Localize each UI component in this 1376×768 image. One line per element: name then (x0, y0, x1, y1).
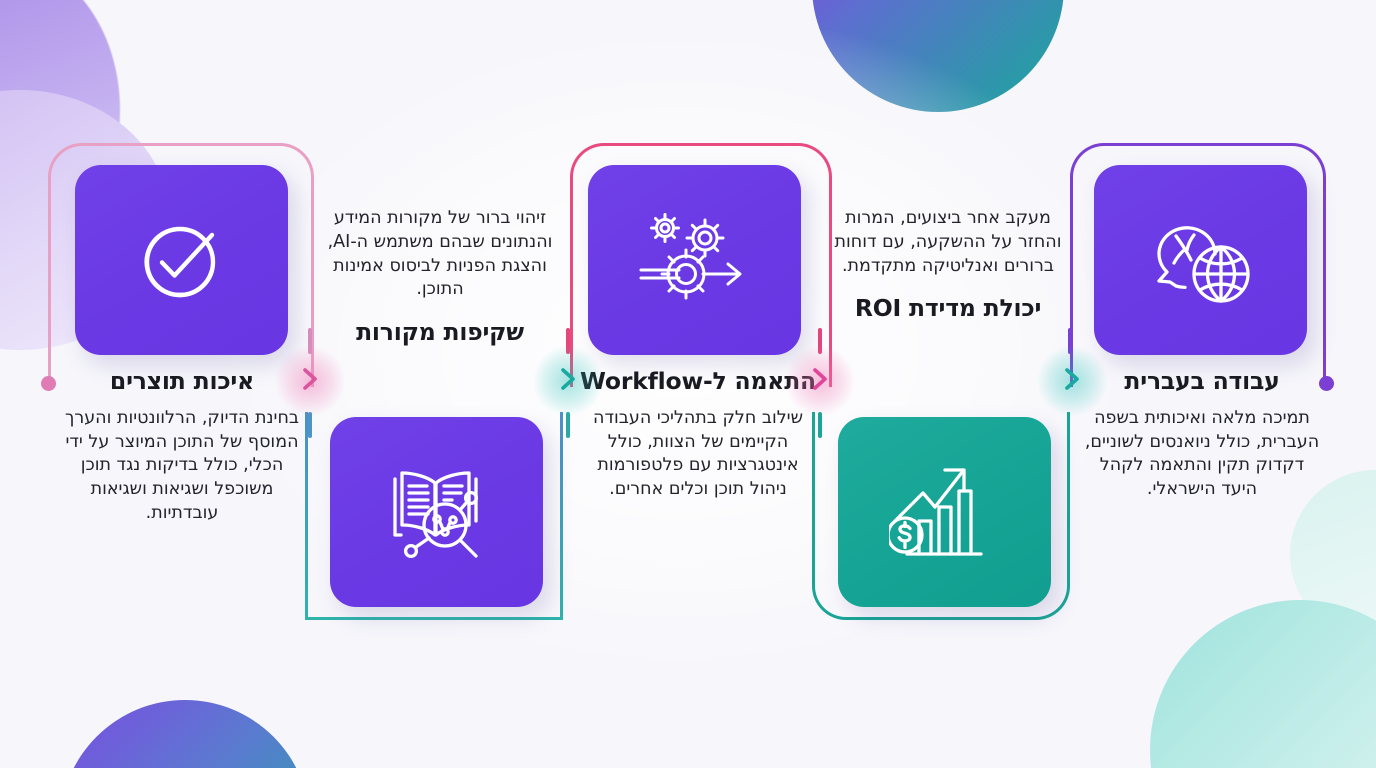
step-description: תמיכה מלאה ואיכותית בשפה העברית, כולל ני… (1082, 407, 1322, 502)
gears-arrow-icon (639, 208, 751, 312)
decorative-blob-bottom-left (60, 700, 310, 768)
step-title: התאמה ל-Workflow (578, 368, 818, 396)
step-description: מעקב אחר ביצועים, המרות והחזר על ההשקעה,… (828, 207, 1068, 278)
icon-tile-product-quality[interactable] (75, 165, 288, 355)
chevron-right-icon (809, 366, 831, 396)
frame-endpoint-dot-left (41, 376, 56, 391)
step-connector-3 (791, 352, 849, 410)
step-title: שקיפות מקורות (320, 319, 560, 347)
step-title: יכולת מדידת ROI (828, 295, 1068, 323)
icon-tile-workflow-fit[interactable] (588, 165, 801, 355)
step-connector-2 (539, 352, 597, 410)
step-text-workflow-fit: התאמה ל-Workflow שילוב חלק בתהליכי העבוד… (578, 368, 818, 502)
step-description: שילוב חלק בתהליכי העבודה הקיימים של הצוו… (578, 407, 818, 502)
chevron-right-icon (299, 366, 321, 396)
book-magnifier-icon (381, 459, 493, 565)
step-text-hebrew-support: עבודה בעברית תמיכה מלאה ואיכותית בשפה הע… (1082, 368, 1322, 502)
icon-tile-source-transparency[interactable] (330, 417, 543, 607)
step-title: איכות תוצרים (62, 368, 302, 396)
step-text-product-quality: איכות תוצרים בחינת הדיוק, הרלוונטיות והע… (62, 368, 302, 526)
step-text-roi-measurability: מעקב אחר ביצועים, המרות והחזר על ההשקעה,… (828, 207, 1068, 323)
speech-bubble-globe-icon (1145, 208, 1257, 312)
step-title: עבודה בעברית (1082, 368, 1322, 396)
step-description: זיהוי ברור של מקורות המידע והנתונים שבהם… (320, 207, 560, 302)
step-connector-4 (1043, 352, 1101, 410)
step-text-source-transparency: זיהוי ברור של מקורות המידע והנתונים שבהם… (320, 207, 560, 347)
check-circle-icon (129, 207, 235, 313)
step-connector-1 (281, 352, 339, 410)
decorative-blob-top-right (812, 0, 1064, 112)
step-description: בחינת הדיוק, הרלוונטיות והערך המוסף של ה… (62, 407, 302, 526)
decorative-blob-bottom-right (1150, 600, 1376, 768)
growth-chart-dollar-icon (889, 459, 1001, 565)
icon-tile-roi-measurability[interactable] (838, 417, 1051, 607)
infographic-canvas: איכות תוצרים בחינת הדיוק, הרלוונטיות והע… (0, 0, 1376, 768)
chevron-right-icon (557, 366, 579, 396)
icon-tile-hebrew-support[interactable] (1094, 165, 1307, 355)
chevron-right-icon (1061, 366, 1083, 396)
